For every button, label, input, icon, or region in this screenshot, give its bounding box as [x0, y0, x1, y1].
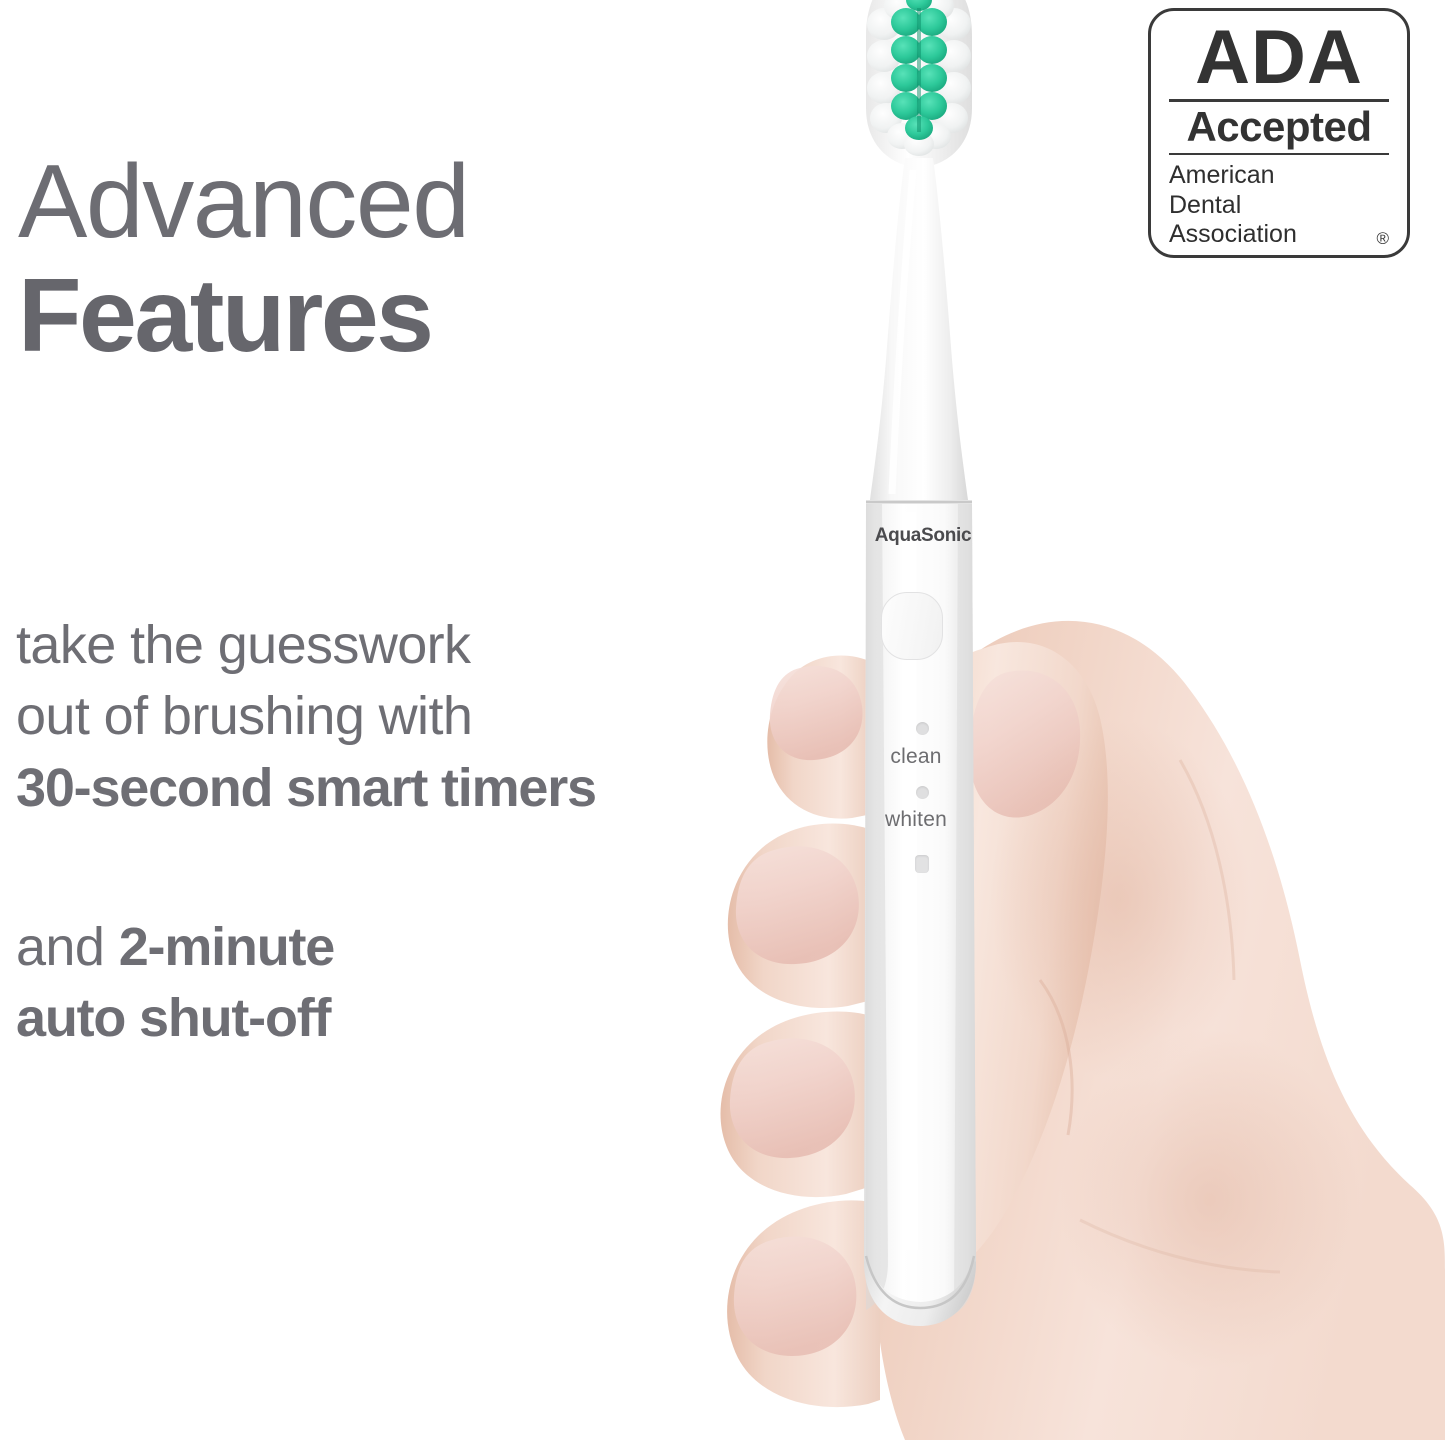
ada-divider-bottom — [1169, 153, 1389, 155]
headline-block: Advanced Features — [18, 150, 778, 371]
mode-label-whiten: whiten — [856, 808, 976, 832]
knuckle-shade-2 — [1060, 1030, 1360, 1370]
handle-cap — [864, 1258, 976, 1326]
knuckle-shade-1 — [990, 720, 1250, 1080]
body-line-2: out of brushing with — [16, 681, 776, 752]
brand-wordmark: AquaSonic — [858, 525, 988, 547]
bristles-outer — [867, 0, 971, 156]
feature-paragraph-shutoff: and 2-minute auto shut-off — [16, 912, 776, 1055]
headline-line-2: Features — [18, 262, 778, 371]
palm-crease-1 — [1180, 760, 1234, 980]
ada-org-line-2: Dental — [1169, 191, 1391, 221]
body-line-1: take the guesswork — [16, 610, 776, 681]
ada-accepted-label: Accepted — [1167, 106, 1391, 148]
led-indicator-clean — [916, 722, 929, 735]
palm-crease-2 — [1080, 1220, 1280, 1272]
thumb — [925, 642, 1108, 1282]
registered-trademark-icon: ® — [1376, 229, 1389, 249]
body-line-5: auto shut-off — [16, 983, 776, 1054]
led-indicator-whiten — [916, 786, 929, 799]
handle-cap-seam — [866, 1256, 974, 1308]
product-feature-image: Advanced Features take the guesswork out… — [0, 0, 1445, 1440]
shutoff-highlight-2: auto shut-off — [16, 988, 330, 1048]
finger-pinky-nail — [734, 1237, 857, 1356]
mode-label-clean: clean — [856, 745, 976, 769]
timer-highlight: 30-second smart timers — [16, 758, 596, 818]
handle-right-shade — [954, 504, 976, 1314]
finger-index — [767, 655, 872, 818]
power-button[interactable] — [881, 592, 943, 660]
headline-line-1: Advanced — [18, 150, 778, 254]
brush-neck — [870, 158, 968, 500]
ada-org-line-1: American — [1169, 161, 1391, 191]
finger-ring-nail — [730, 1038, 855, 1158]
body-line-3: 30-second smart timers — [16, 753, 776, 824]
palm-mass — [872, 621, 1445, 1440]
body-line-4: and 2-minute — [16, 912, 776, 983]
feature-paragraph-timers: take the guesswork out of brushing with … — [16, 610, 776, 824]
finger-index-nail — [770, 666, 863, 760]
shutoff-highlight-1: 2-minute — [119, 917, 334, 977]
neck-highlight — [892, 170, 913, 494]
thumb-crease — [1040, 980, 1072, 1135]
ada-accepted-badge: ADA Accepted American Dental Association… — [1148, 8, 1410, 258]
finger-pinky — [727, 1200, 880, 1407]
ada-organization: American Dental Association ® — [1167, 161, 1391, 250]
battery-indicator-icon — [915, 855, 929, 873]
thumb-nail — [970, 671, 1080, 818]
bristles-center-green — [891, 0, 947, 140]
ada-acronym: ADA — [1167, 21, 1391, 95]
brush-head-backing — [866, 0, 972, 190]
shutoff-prefix: and — [16, 917, 119, 977]
ada-org-line-3: Association — [1169, 220, 1391, 250]
